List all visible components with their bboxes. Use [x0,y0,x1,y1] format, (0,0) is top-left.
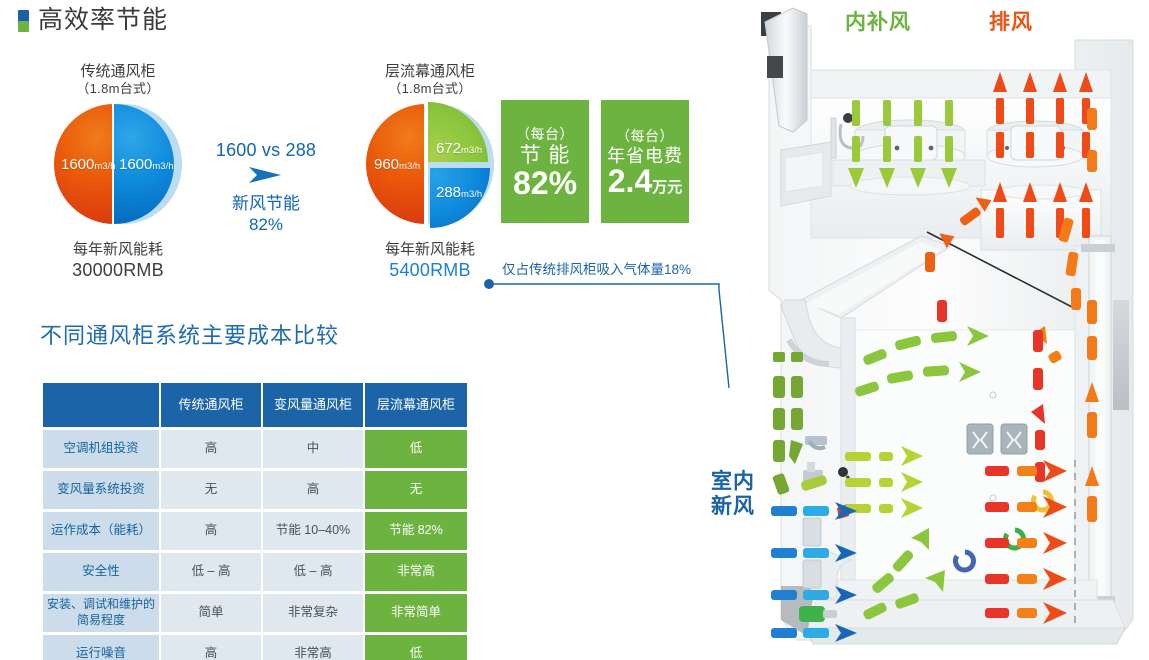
cell-laminar: 非常简单 [365,594,467,632]
badge-value: 2.4万元 [608,165,683,197]
table-row: 变风量系统投资 无 高 无 [43,471,467,509]
chart-laminar: 层流幕通风柜 （1.8m台式） 960m3/h 672m3/h 288m3/h [330,62,530,283]
row-label: 空调机组投资 [43,430,159,468]
diagram-label-supply-air: 内补风 [845,6,911,36]
table-row: 安全性 低 – 高 低 – 高 非常高 [43,553,467,591]
fume-hood-diagram [745,0,1149,660]
table-header-laminar: 层流幕通风柜 [365,383,467,427]
cell-traditional: 简单 [161,594,261,632]
badge-unit-label: （每台） [516,124,574,144]
table-header-vav: 变风量通风柜 [263,383,363,427]
badge-unit-label: （每台） [616,126,674,146]
pie-label-fresh-air: 288m3/h [436,184,482,201]
footer-value: 30000RMB [18,259,218,282]
cell-vav: 低 – 高 [263,553,363,591]
row-label: 安全性 [43,553,159,591]
table-header-blank [43,383,159,427]
cell-laminar: 低 [365,635,467,660]
footer-title: 每年新风能耗 [73,241,163,258]
cell-laminar: 无 [365,471,467,509]
table-row: 运作成本（能耗） 高 节能 10–40% 节能 82% [43,512,467,550]
footer-title: 每年新风能耗 [385,241,475,258]
section-title: 不同通风柜系统主要成本比较 [40,318,339,350]
comparison-block: 1600 vs 288 新风节能 82% [196,140,336,236]
cost-comparison-table: 传统通风柜 变风量通风柜 层流幕通风柜 空调机组投资 高 中 低 变风量系统投资… [41,380,469,660]
cell-vav: 非常复杂 [263,594,363,632]
page-header: 高效率节能 [18,8,168,33]
table-header-row: 传统通风柜 变风量通风柜 层流幕通风柜 [43,383,467,427]
pie-label-exhaust: 960m3/h [374,156,420,173]
badge-title: 节 能 [520,145,571,167]
infographic-page: 高效率节能 传统通风柜 （1.8m台式） 1600m3/h 1600m3/h 每… [0,0,1149,660]
diagram-label-indoor-fresh-air: 室内新风 [711,470,755,520]
pie-label-supply: 1600m3/h [119,156,174,173]
table-row: 空调机组投资 高 中 低 [43,430,467,468]
cell-vav: 中 [263,430,363,468]
cell-traditional: 无 [161,471,261,509]
chart-laminar-name: 层流幕通风柜 [385,63,475,80]
row-label: 运行噪音 [43,635,159,660]
row-label: 安装、调试和维护的简易程度 [43,594,159,632]
cell-traditional: 高 [161,512,261,550]
comparison-label: 新风节能 [196,193,336,214]
chart-laminar-spec: （1.8m台式） [330,81,530,98]
pie-label-inner-supply: 672m3/h [436,140,482,157]
badge-value: 82% [513,167,577,199]
comparison-ratio: 1600 vs 288 [196,140,336,161]
table-row: 运行噪音 高 非常高 低 [43,635,467,660]
callout-leader-line [480,268,740,498]
chart-laminar-caption: 层流幕通风柜 （1.8m台式） [330,62,530,98]
chart-traditional: 传统通风柜 （1.8m台式） 1600m3/h 1600m3/h 每年新风能耗 … [18,62,218,283]
pie-label-exhaust: 1600m3/h [61,156,116,173]
comparison-percent: 82% [196,214,336,235]
row-label: 运作成本（能耗） [43,512,159,550]
badge-energy-saving: （每台） 节 能 82% [501,100,589,223]
cell-laminar: 节能 82% [365,512,467,550]
arrow-right-icon [243,164,289,186]
cell-traditional: 高 [161,430,261,468]
badge-cost-saving: （每台） 年省电费 2.4万元 [601,100,689,223]
cell-vav: 节能 10–40% [263,512,363,550]
cell-traditional: 低 – 高 [161,553,261,591]
page-title: 高效率节能 [38,8,168,33]
cell-laminar: 低 [365,430,467,468]
pie-laminar: 960m3/h 672m3/h 288m3/h [366,104,494,224]
chart-traditional-name: 传统通风柜 [80,63,155,80]
diagram-label-exhaust-air: 排风 [989,6,1033,36]
cell-vav: 非常高 [263,635,363,660]
pie-traditional: 1600m3/h 1600m3/h [54,104,182,224]
cell-vav: 高 [263,471,363,509]
table-row: 安装、调试和维护的简易程度 简单 非常复杂 非常简单 [43,594,467,632]
chart-traditional-footer: 每年新风能耗 30000RMB [18,240,218,283]
cell-traditional: 高 [161,635,261,660]
row-label: 变风量系统投资 [43,471,159,509]
table-header-traditional: 传统通风柜 [161,383,261,427]
header-square-icon [18,10,29,32]
chart-traditional-caption: 传统通风柜 （1.8m台式） [18,62,218,98]
cell-laminar: 非常高 [365,553,467,591]
chart-traditional-spec: （1.8m台式） [18,81,218,98]
